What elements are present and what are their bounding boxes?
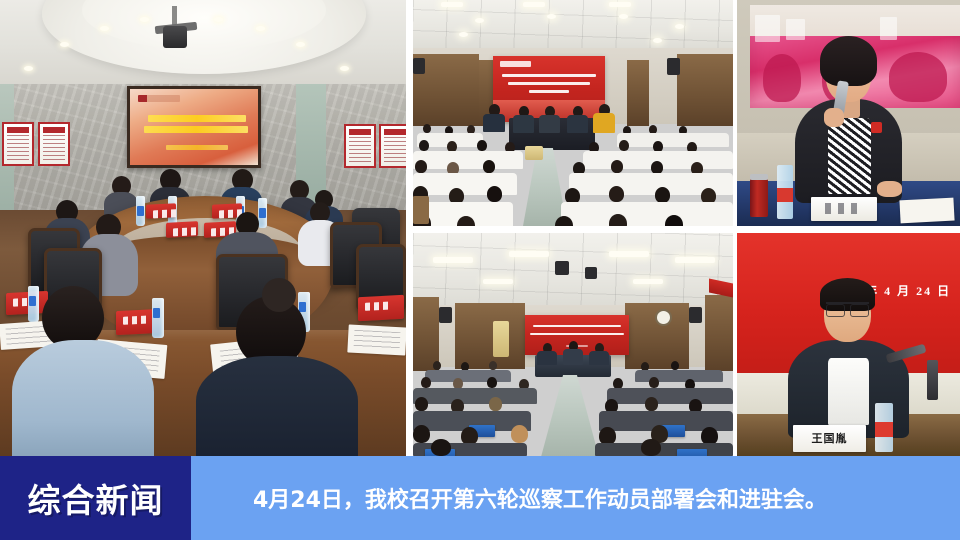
thermos-cup: [750, 179, 768, 217]
photo-woman-speaker: [737, 0, 960, 226]
wood-panel: [677, 54, 733, 126]
speaker-blouse: [828, 118, 870, 195]
photo-collage: 年 4 月 24 日 王国胤: [0, 0, 960, 456]
panelist-body: [537, 351, 557, 365]
ceiling-downlight: [459, 32, 468, 37]
banner-title-line-3: [529, 90, 569, 93]
caption-text: 4月24日，我校召开第六轮巡察工作动员部署会和进驻会。: [253, 482, 827, 514]
projection-screen: [127, 86, 261, 168]
ceiling-projector: [585, 267, 597, 279]
speaker-nameplate: [811, 197, 878, 222]
eyeglasses: [826, 302, 868, 315]
wall-speaker: [667, 58, 680, 75]
banner-title-line-2: [508, 82, 591, 85]
water-bottle: [152, 298, 164, 338]
name-card: [358, 295, 404, 321]
ceiling-downlight: [619, 14, 628, 19]
banner-university-logo: [500, 61, 531, 67]
screen-title-line-2: [144, 126, 248, 133]
floor-standee: [493, 321, 509, 357]
ceiling-grid: [413, 0, 733, 52]
photo-man-speaker: 年 4 月 24 日 王国胤: [737, 233, 960, 456]
ceiling-spotlight: [100, 26, 109, 31]
nameplate-text: [825, 203, 862, 214]
wood-panel: [705, 295, 733, 371]
ceiling-downlight: [675, 24, 684, 29]
foreground-person-body: [196, 356, 358, 456]
ceiling-light: [483, 279, 513, 284]
screen-title-line-1: [148, 115, 246, 122]
ceiling-light: [609, 2, 631, 7]
mural-building: [755, 15, 780, 42]
wood-panel: [413, 297, 439, 371]
ceiling-spotlight: [140, 17, 149, 22]
screen-subtitle: [166, 145, 228, 150]
ceiling-light: [433, 257, 473, 263]
ceiling-light: [609, 251, 649, 257]
wall-notice-board: [344, 124, 376, 168]
ceiling-spotlight: [24, 66, 33, 71]
mural-foliage: [763, 54, 801, 102]
ceiling-light: [509, 251, 549, 257]
stage-step: [525, 146, 543, 160]
wood-panel: [455, 303, 525, 369]
banner-title-line-2: [530, 333, 624, 335]
name-card: [166, 221, 198, 238]
ceiling-downlight: [653, 38, 662, 43]
wall-notice-board: [379, 124, 406, 168]
speaker-hand: [824, 108, 844, 126]
foreground-person-head: [262, 278, 296, 312]
water-bottle: [136, 196, 145, 226]
mural-building: [786, 19, 805, 40]
speaker-hand: [877, 181, 902, 197]
water-bottle: [777, 165, 793, 219]
banner-title-line-1: [502, 74, 596, 77]
panelist-body: [589, 351, 609, 365]
panelist-body: [593, 113, 615, 133]
ceiling-spotlight: [296, 42, 305, 47]
ceiling-light: [675, 257, 715, 263]
door: [627, 60, 649, 126]
name-card: [146, 203, 176, 219]
caption-body: 4月24日，我校召开第六轮巡察工作动员部署会和进驻会。: [191, 456, 960, 540]
ceiling-downlight: [547, 14, 556, 19]
party-emblem-badge: [871, 122, 882, 133]
photo-auditorium-meeting: [413, 233, 733, 456]
photo-lecture-hall-mobilization: [413, 0, 733, 226]
ceiling-spotlight: [214, 17, 223, 22]
ceiling-projector: [163, 26, 187, 48]
ceiling-spotlight: [340, 66, 349, 71]
ceiling-light: [523, 2, 545, 7]
ceiling-spotlight: [60, 42, 69, 47]
category-tag-label: 综合新闻: [28, 474, 164, 522]
category-tag[interactable]: 综合新闻: [0, 456, 191, 540]
ceiling-light: [441, 2, 463, 7]
panelist-body: [513, 115, 534, 133]
ceiling-grid: [413, 233, 733, 309]
water-bottle: [28, 286, 39, 322]
wall-notice-board: [38, 122, 70, 166]
foreground-person-body: [12, 340, 154, 456]
photo-round-table-meeting: [0, 0, 406, 456]
wall-clock: [655, 309, 672, 326]
panelist-body: [563, 349, 583, 365]
speaker-hair: [820, 36, 878, 86]
water-bottle: [875, 403, 893, 452]
wall-speaker: [439, 307, 452, 323]
ceiling-downlight: [475, 18, 484, 23]
ceiling-projector: [555, 261, 569, 275]
speaker-shirt: [828, 358, 868, 425]
panelist-body: [567, 115, 588, 133]
wall-notice-board: [2, 122, 34, 166]
speaker-nameplate: 王国胤: [793, 425, 867, 452]
caption-bar: 综合新闻 4月24日，我校召开第六轮巡察工作动员部署会和进驻会。: [0, 456, 960, 540]
center-aisle: [541, 375, 599, 456]
panelist-body: [483, 114, 505, 132]
speech-papers: [899, 198, 954, 223]
wall-speaker: [413, 58, 425, 74]
wall-speaker: [689, 307, 702, 323]
water-bottle: [258, 198, 267, 228]
ceiling-light: [633, 279, 663, 284]
news-banner: 年 4 月 24 日 王国胤 综合新闻 4月24日，我校召开第六轮巡察工作动员部…: [0, 0, 960, 540]
mural-sky: [750, 5, 960, 36]
screen-university-logo: [138, 95, 180, 102]
ceiling-spotlight: [256, 26, 265, 31]
banner-title-line-1: [533, 325, 620, 327]
meeting-document: [347, 325, 406, 356]
mural-foliage: [889, 52, 948, 102]
microphone-base: [927, 360, 938, 400]
panelist-body: [539, 115, 560, 133]
chair-frame: [413, 196, 429, 224]
mural-building: [880, 17, 897, 40]
